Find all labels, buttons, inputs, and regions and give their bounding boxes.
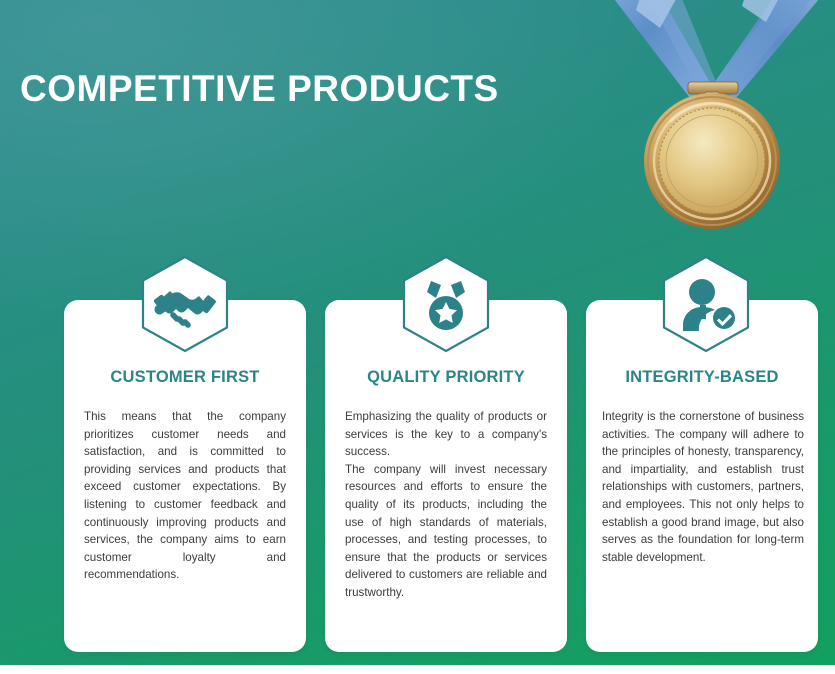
card-paragraph: This means that the company prioritizes … <box>84 408 286 584</box>
bottom-white-strip <box>0 665 835 674</box>
card-quality-priority[interactable]: QUALITY PRIORITY Emphasizing the quality… <box>325 300 567 652</box>
award-medal-graphic: 荣誉加身 不忘初心 Honor added Never forget our o… <box>540 0 835 234</box>
card-paragraph-1: Emphasizing the quality of products or s… <box>345 408 547 461</box>
handshake-icon <box>139 255 231 353</box>
card-body: Integrity is the cornerstone of business… <box>602 408 804 566</box>
card-customer-first[interactable]: CUSTOMER FIRST This means that the compa… <box>64 300 306 652</box>
medal-svg <box>540 0 835 234</box>
card-title: CUSTOMER FIRST <box>64 368 306 387</box>
card-paragraph-2: The company will invest necessary resour… <box>345 461 547 602</box>
card-paragraph: Integrity is the cornerstone of business… <box>602 408 804 566</box>
slide-canvas: 荣誉加身 不忘初心 Honor added Never forget our o… <box>0 0 835 674</box>
card-integrity-based[interactable]: INTEGRITY-BASED Integrity is the corners… <box>586 300 818 652</box>
page-title: COMPETITIVE PRODUCTS <box>20 70 499 107</box>
card-title: INTEGRITY-BASED <box>586 368 818 387</box>
cards-row: CUSTOMER FIRST This means that the compa… <box>0 300 835 652</box>
card-body: This means that the company prioritizes … <box>84 408 286 584</box>
person-check-icon <box>660 255 752 353</box>
card-title: QUALITY PRIORITY <box>325 368 567 387</box>
card-body: Emphasizing the quality of products or s… <box>345 408 547 602</box>
medal-star-icon <box>400 255 492 353</box>
